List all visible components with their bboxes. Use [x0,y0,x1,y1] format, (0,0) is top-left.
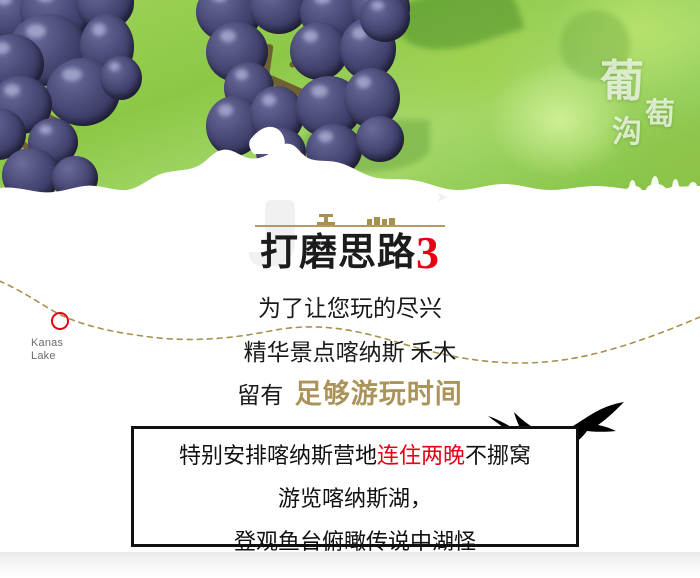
watermark-char-pu: 葡 [600,60,644,104]
ladybug-spot [300,158,304,162]
deco-hut [367,219,372,225]
page-title-number: 3 [416,227,440,278]
bottom-gradient [0,552,700,578]
ladybug-spot [291,159,295,163]
grape-berry [100,56,142,100]
ladybug-spot [292,165,296,169]
ladybug-icon [289,151,306,171]
page-title-text: 打磨思路 [260,232,416,274]
subtitle-line-2: 精华景点喀纳斯 禾木 [0,341,700,364]
watermark-char-tao: 萄 [645,100,675,130]
deco-post [324,216,328,225]
deco-hut [374,217,380,225]
title-decoration: ➤ [255,206,445,228]
promo-page: 葡 萄 沟 Kanas Lake [0,0,700,578]
callout-line-3: 登观鱼台俯瞰传说中湖怪 [134,531,576,553]
callout-line-1: 特别安排喀纳斯营地连住两晚不挪窝 [134,445,576,467]
grape-berry [306,124,362,176]
subtitle-line-3-highlight: 足够游玩时间 [295,379,463,409]
deco-hut [389,218,395,225]
grape-berry [356,116,404,162]
grape-photo-banner: 葡 萄 沟 [0,0,700,200]
callout-line-2: 游览喀纳斯湖， [134,488,576,510]
flying-bird-icon: ➤ [431,192,453,204]
deco-hut [382,219,387,225]
callout-line-1-highlight: 连住两晚 [377,443,465,468]
ladybug-spot [300,165,304,169]
callout-line-1-part1: 特别安排喀纳斯营地 [179,443,377,468]
section-title-block: ➤ 打磨思路3 [0,206,700,277]
subtitle-line-1: 为了让您玩的尽兴 [0,297,700,320]
callout-line-1-part2: 不挪窝 [465,443,531,468]
deco-top [319,214,333,217]
watermark-char-gou: 沟 [612,118,642,148]
subtitle-line-3-lead: 留有 [237,383,283,408]
ladybug-seam [297,155,299,171]
highlight-callout-box: 特别安排喀纳斯营地连住两晚不挪窝 游览喀纳斯湖， 登观鱼台俯瞰传说中湖怪 [131,426,579,547]
page-title: 打磨思路3 [0,229,700,277]
